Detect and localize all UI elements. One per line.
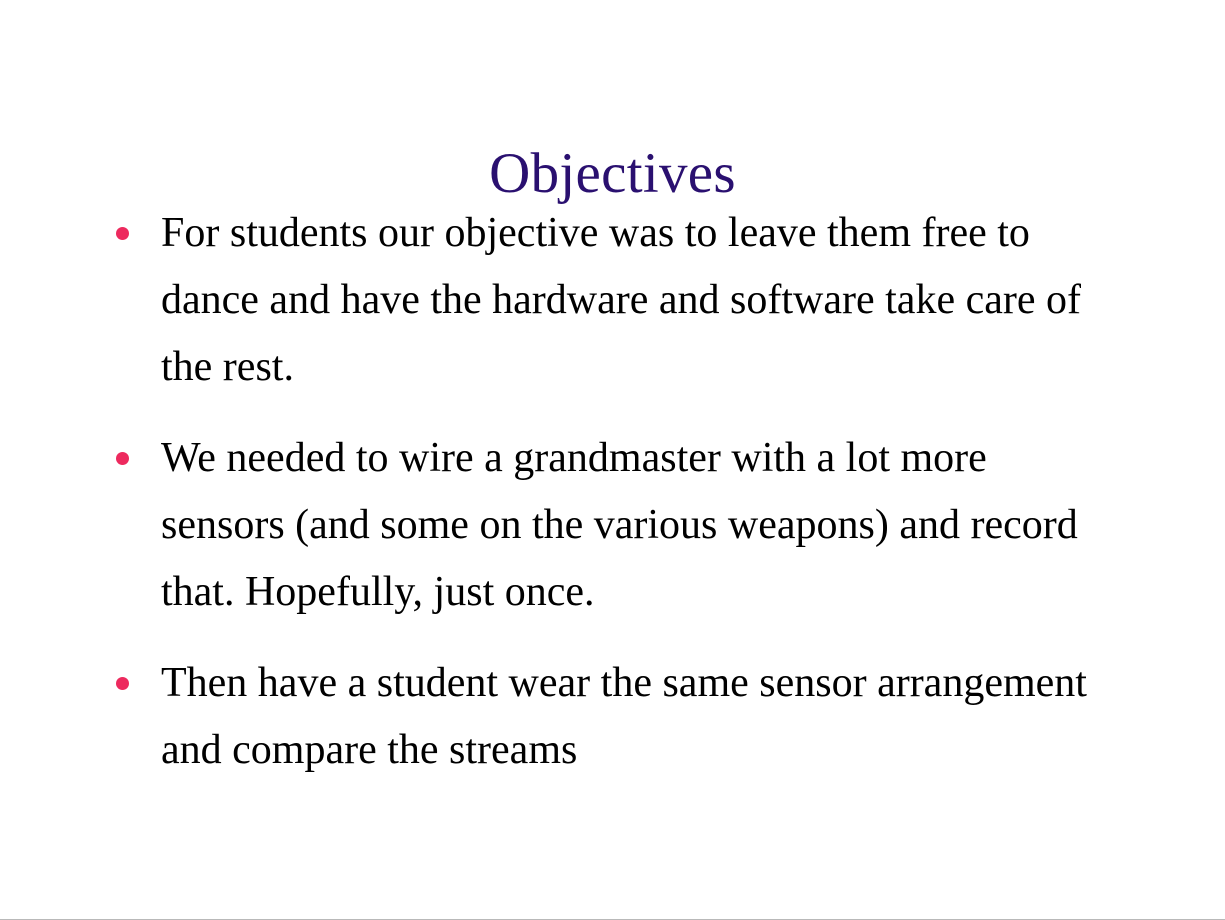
round-bullet-dot-icon — [116, 677, 129, 690]
list-item: We needed to wire a grandmaster with a l… — [104, 425, 1114, 626]
page-title: Objectives — [0, 142, 1225, 206]
bullet-list: For students our objective was to leave … — [104, 200, 1114, 784]
round-bullet-dot-icon — [116, 227, 129, 240]
list-item: Then have a student wear the same sensor… — [104, 650, 1114, 784]
round-bullet-dot-icon — [116, 452, 129, 465]
list-item-label: We needed to wire a grandmaster with a l… — [161, 425, 1114, 626]
slide-canvas: Objectives For students our objective wa… — [0, 0, 1225, 920]
list-item: For students our objective was to leave … — [104, 200, 1114, 401]
list-item-label: For students our objective was to leave … — [161, 200, 1114, 401]
list-item-label: Then have a student wear the same sensor… — [161, 650, 1114, 784]
